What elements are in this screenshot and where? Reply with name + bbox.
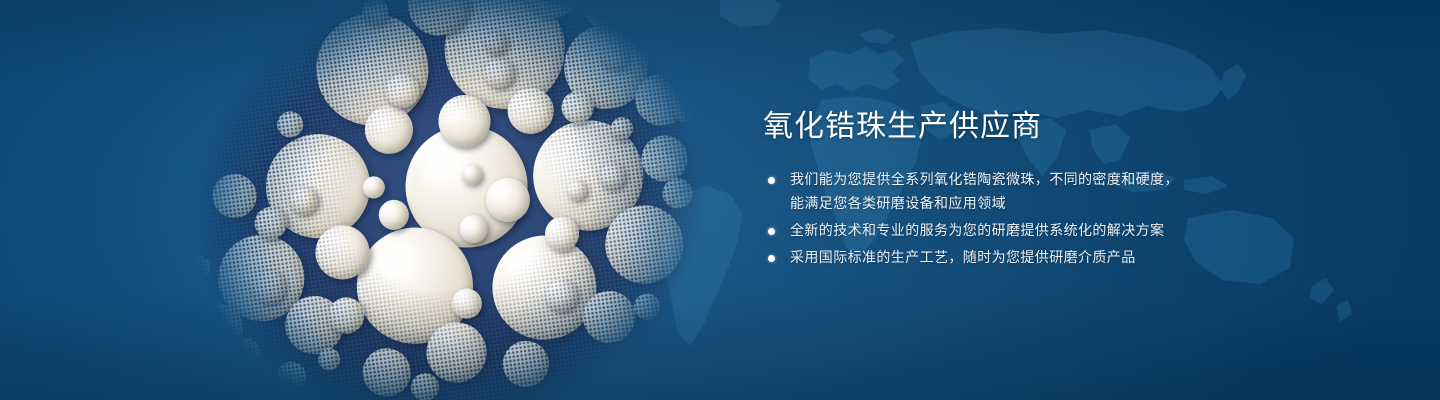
list-item: 采用国际标准的生产工艺，随时为您提供研磨介质产品 [763, 246, 1283, 270]
list-item-line: 采用国际标准的生产工艺，随时为您提供研磨介质产品 [790, 246, 1283, 270]
list-item: 全新的技术和专业的服务为您的研磨提供系统化的解决方案 [763, 219, 1283, 243]
bullet-dot-icon [768, 255, 775, 262]
bullet-dot-icon [768, 177, 775, 184]
list-item-line: 我们能为您提供全系列氧化锆陶瓷微珠，不同的密度和硬度， [790, 168, 1283, 192]
page-title: 氧化锆珠生产供应商 [763, 108, 1283, 146]
bullet-dot-icon [768, 228, 775, 235]
list-item-line: 能满足您各类研磨设备和应用领域 [790, 192, 1283, 216]
feature-list: 我们能为您提供全系列氧化锆陶瓷微珠，不同的密度和硬度， 能满足您各类研磨设备和应… [763, 168, 1283, 270]
list-item-line: 全新的技术和专业的服务为您的研磨提供系统化的解决方案 [790, 219, 1283, 243]
banner-content: 氧化锆珠生产供应商 我们能为您提供全系列氧化锆陶瓷微珠，不同的密度和硬度， 能满… [763, 108, 1283, 273]
hero-banner: 氧化锆珠生产供应商 我们能为您提供全系列氧化锆陶瓷微珠，不同的密度和硬度， 能满… [0, 0, 1440, 400]
list-item: 我们能为您提供全系列氧化锆陶瓷微珠，不同的密度和硬度， 能满足您各类研磨设备和应… [763, 168, 1283, 216]
